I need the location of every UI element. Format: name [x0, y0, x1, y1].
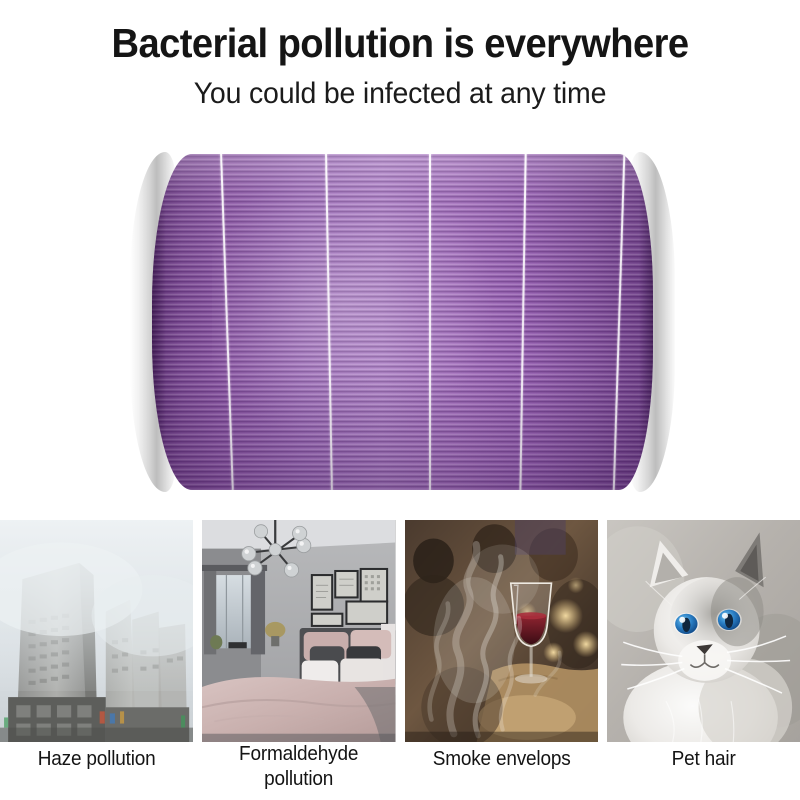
- product-image-area: [0, 140, 800, 508]
- filter-binding-string: [220, 154, 234, 490]
- caption-row: Haze pollution Formaldehyde pollution Sm…: [0, 742, 800, 800]
- hepa-filter-product: [130, 152, 675, 492]
- filter-pleated-body: [152, 154, 653, 490]
- scene-tile-formaldehyde-pollution: [202, 520, 395, 742]
- caption-formaldehyde-pollution: Formaldehyde pollution: [207, 742, 391, 800]
- scene-tile-smoke-envelops: [405, 520, 598, 742]
- scene-tile-pet-hair: [607, 520, 800, 742]
- filter-binding-string: [325, 154, 333, 490]
- header-text-block: Bacterial pollution is everywhere You co…: [0, 0, 800, 114]
- caption-smoke-envelops: Smoke envelops: [409, 742, 593, 800]
- caption-haze-pollution: Haze pollution: [5, 742, 189, 800]
- caption-line-1: Formaldehyde: [207, 742, 391, 767]
- cat-illustration: [607, 520, 800, 742]
- filter-highlight: [212, 154, 503, 490]
- page-subtitle: You could be infected at any time: [20, 68, 780, 114]
- filter-binding-string: [519, 154, 526, 490]
- filter-binding-string: [429, 154, 431, 490]
- caption-line-2: pollution: [207, 767, 391, 792]
- scene-tile-strip: [0, 520, 800, 742]
- haze-city-illustration: [0, 520, 193, 742]
- page-title: Bacterial pollution is everywhere: [28, 0, 772, 68]
- scene-tile-haze-pollution: [0, 520, 193, 742]
- filter-binding-string: [613, 154, 626, 490]
- smoke-wine-illustration: [405, 520, 598, 742]
- bedroom-illustration: [202, 520, 395, 742]
- caption-pet-hair: Pet hair: [612, 742, 796, 800]
